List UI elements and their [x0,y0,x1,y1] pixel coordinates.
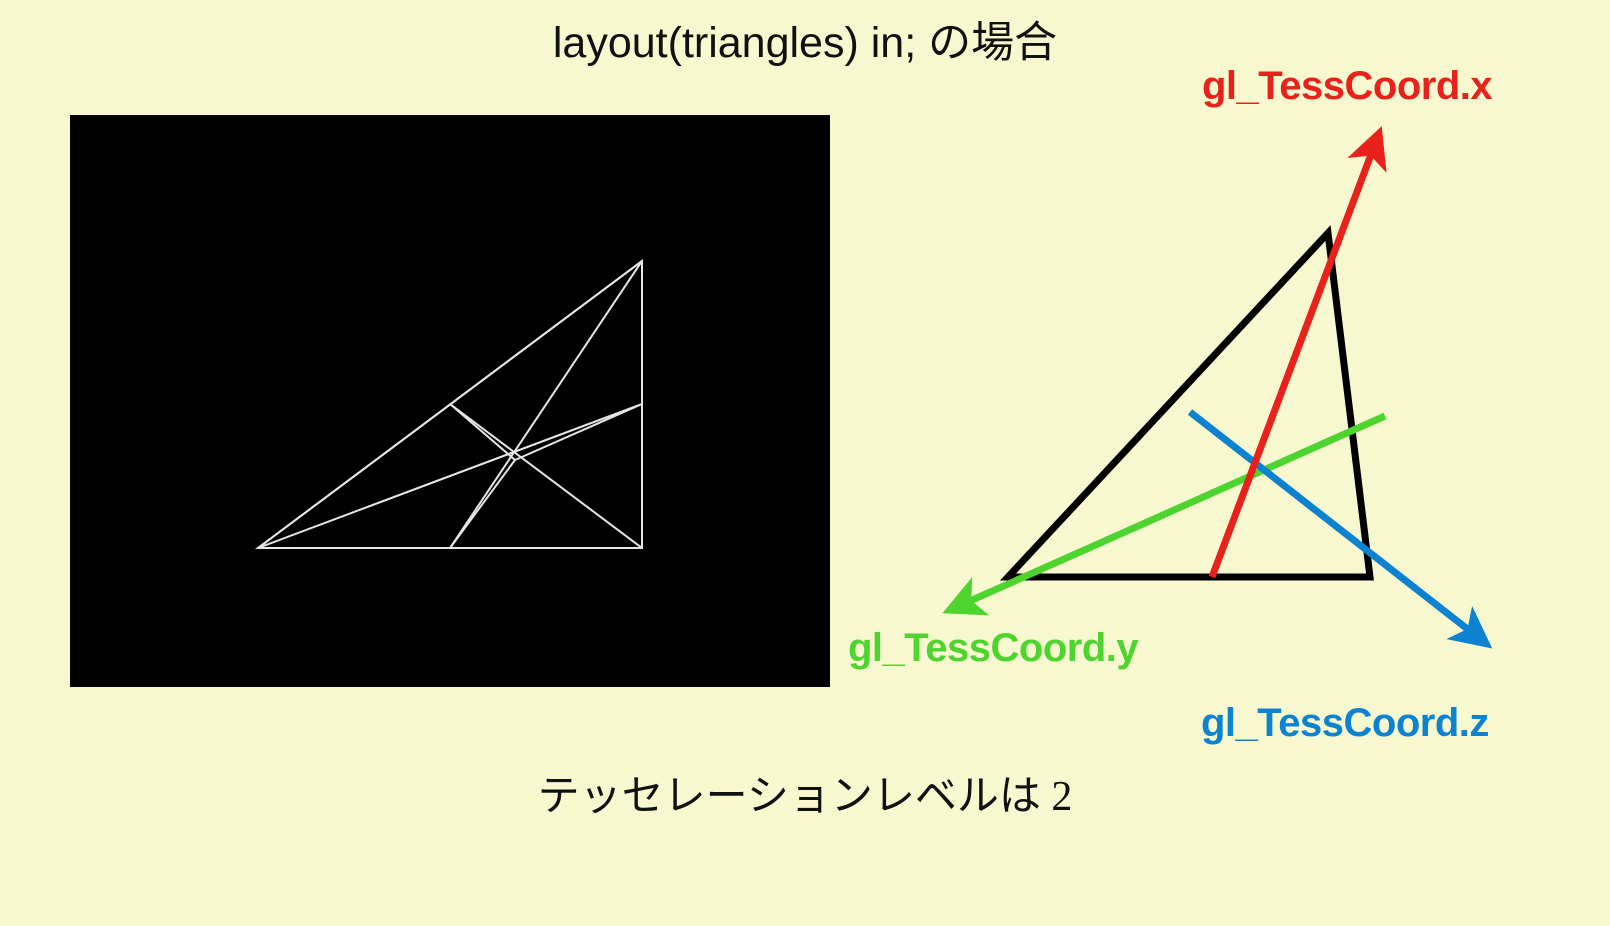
wireframe-line-bottom-mid-to-c [450,261,642,548]
tessellation-screenshot [70,115,830,687]
axis-label-tesscoord-z: gl_TessCoord.z [1201,701,1489,746]
axis-label-tesscoord-y: gl_TessCoord.y [848,626,1138,671]
slide-title: layout(triangles) in; の場合 [0,8,1610,70]
barycentric-svg [880,110,1580,690]
axis-line-tesscoord-x [1212,136,1378,577]
wireframe-line-center-to-right-mid [515,404,642,460]
slide-caption: テッセレーションレベルは 2 [0,762,1610,823]
axis-label-tesscoord-x: gl_TessCoord.x [1202,64,1492,109]
wireframe-svg [70,115,830,687]
slide-canvas: layout(triangles) in; の場合 [0,0,1610,926]
wireframe-line-b-to-hyp-mid [450,404,642,548]
diagram-triangle-outline [1008,233,1370,577]
barycentric-diagram [880,110,1580,690]
wireframe-line-a-to-right-mid [258,404,642,548]
